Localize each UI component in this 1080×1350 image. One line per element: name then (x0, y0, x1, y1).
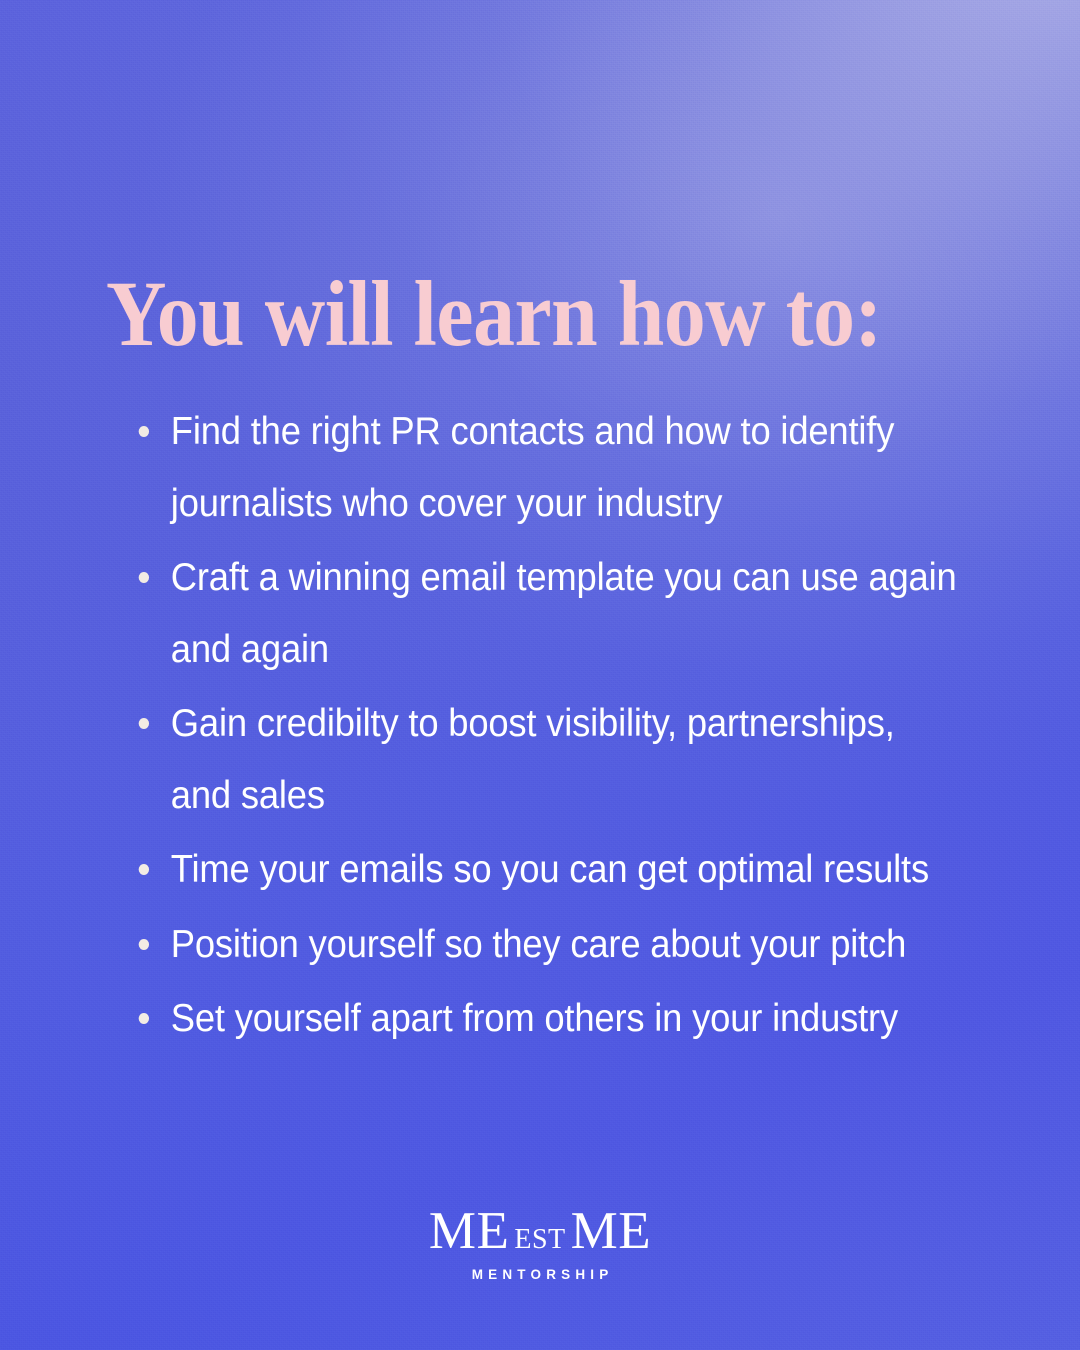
list-item-label: Craft a winning email template you can u… (171, 556, 957, 671)
list-item: Position yourself so they care about you… (133, 909, 965, 981)
bullet-dot-icon (139, 718, 149, 729)
list-item: Gain credibilty to boost visibility, par… (133, 688, 965, 831)
bullet-dot-icon (139, 939, 149, 950)
slide-content: You will learn how to: Find the right PR… (0, 0, 1080, 1350)
bullet-dot-icon (139, 864, 149, 875)
list-item: Find the right PR contacts and how to id… (133, 396, 965, 539)
brand-logo: MEESTME MENTORSHIP (0, 1205, 1080, 1282)
logo-wordmark: MEESTME (429, 1205, 651, 1258)
list-item-label: Position yourself so they care about you… (171, 923, 906, 966)
list-item-label: Find the right PR contacts and how to id… (171, 410, 894, 525)
learning-outcomes-list: Find the right PR contacts and how to id… (133, 396, 1013, 1058)
logo-word-middle: EST (509, 1224, 570, 1255)
bullet-dot-icon (139, 1013, 149, 1024)
page-title: You will learn how to: (106, 268, 916, 361)
list-item-label: Time your emails so you can get optimal … (171, 848, 929, 891)
logo-word-left: ME (429, 1202, 510, 1260)
bullet-dot-icon (139, 426, 149, 437)
bullet-dot-icon (139, 572, 149, 583)
list-item-label: Gain credibilty to boost visibility, par… (171, 702, 895, 817)
list-item: Set yourself apart from others in your i… (133, 983, 965, 1055)
logo-tagline: MENTORSHIP (0, 1267, 1080, 1282)
list-item: Craft a winning email template you can u… (133, 542, 965, 685)
logo-word-right: ME (571, 1202, 652, 1260)
list-item: Time your emails so you can get optimal … (133, 834, 965, 906)
promo-slide: You will learn how to: Find the right PR… (0, 0, 1080, 1350)
list-item-label: Set yourself apart from others in your i… (171, 997, 898, 1040)
